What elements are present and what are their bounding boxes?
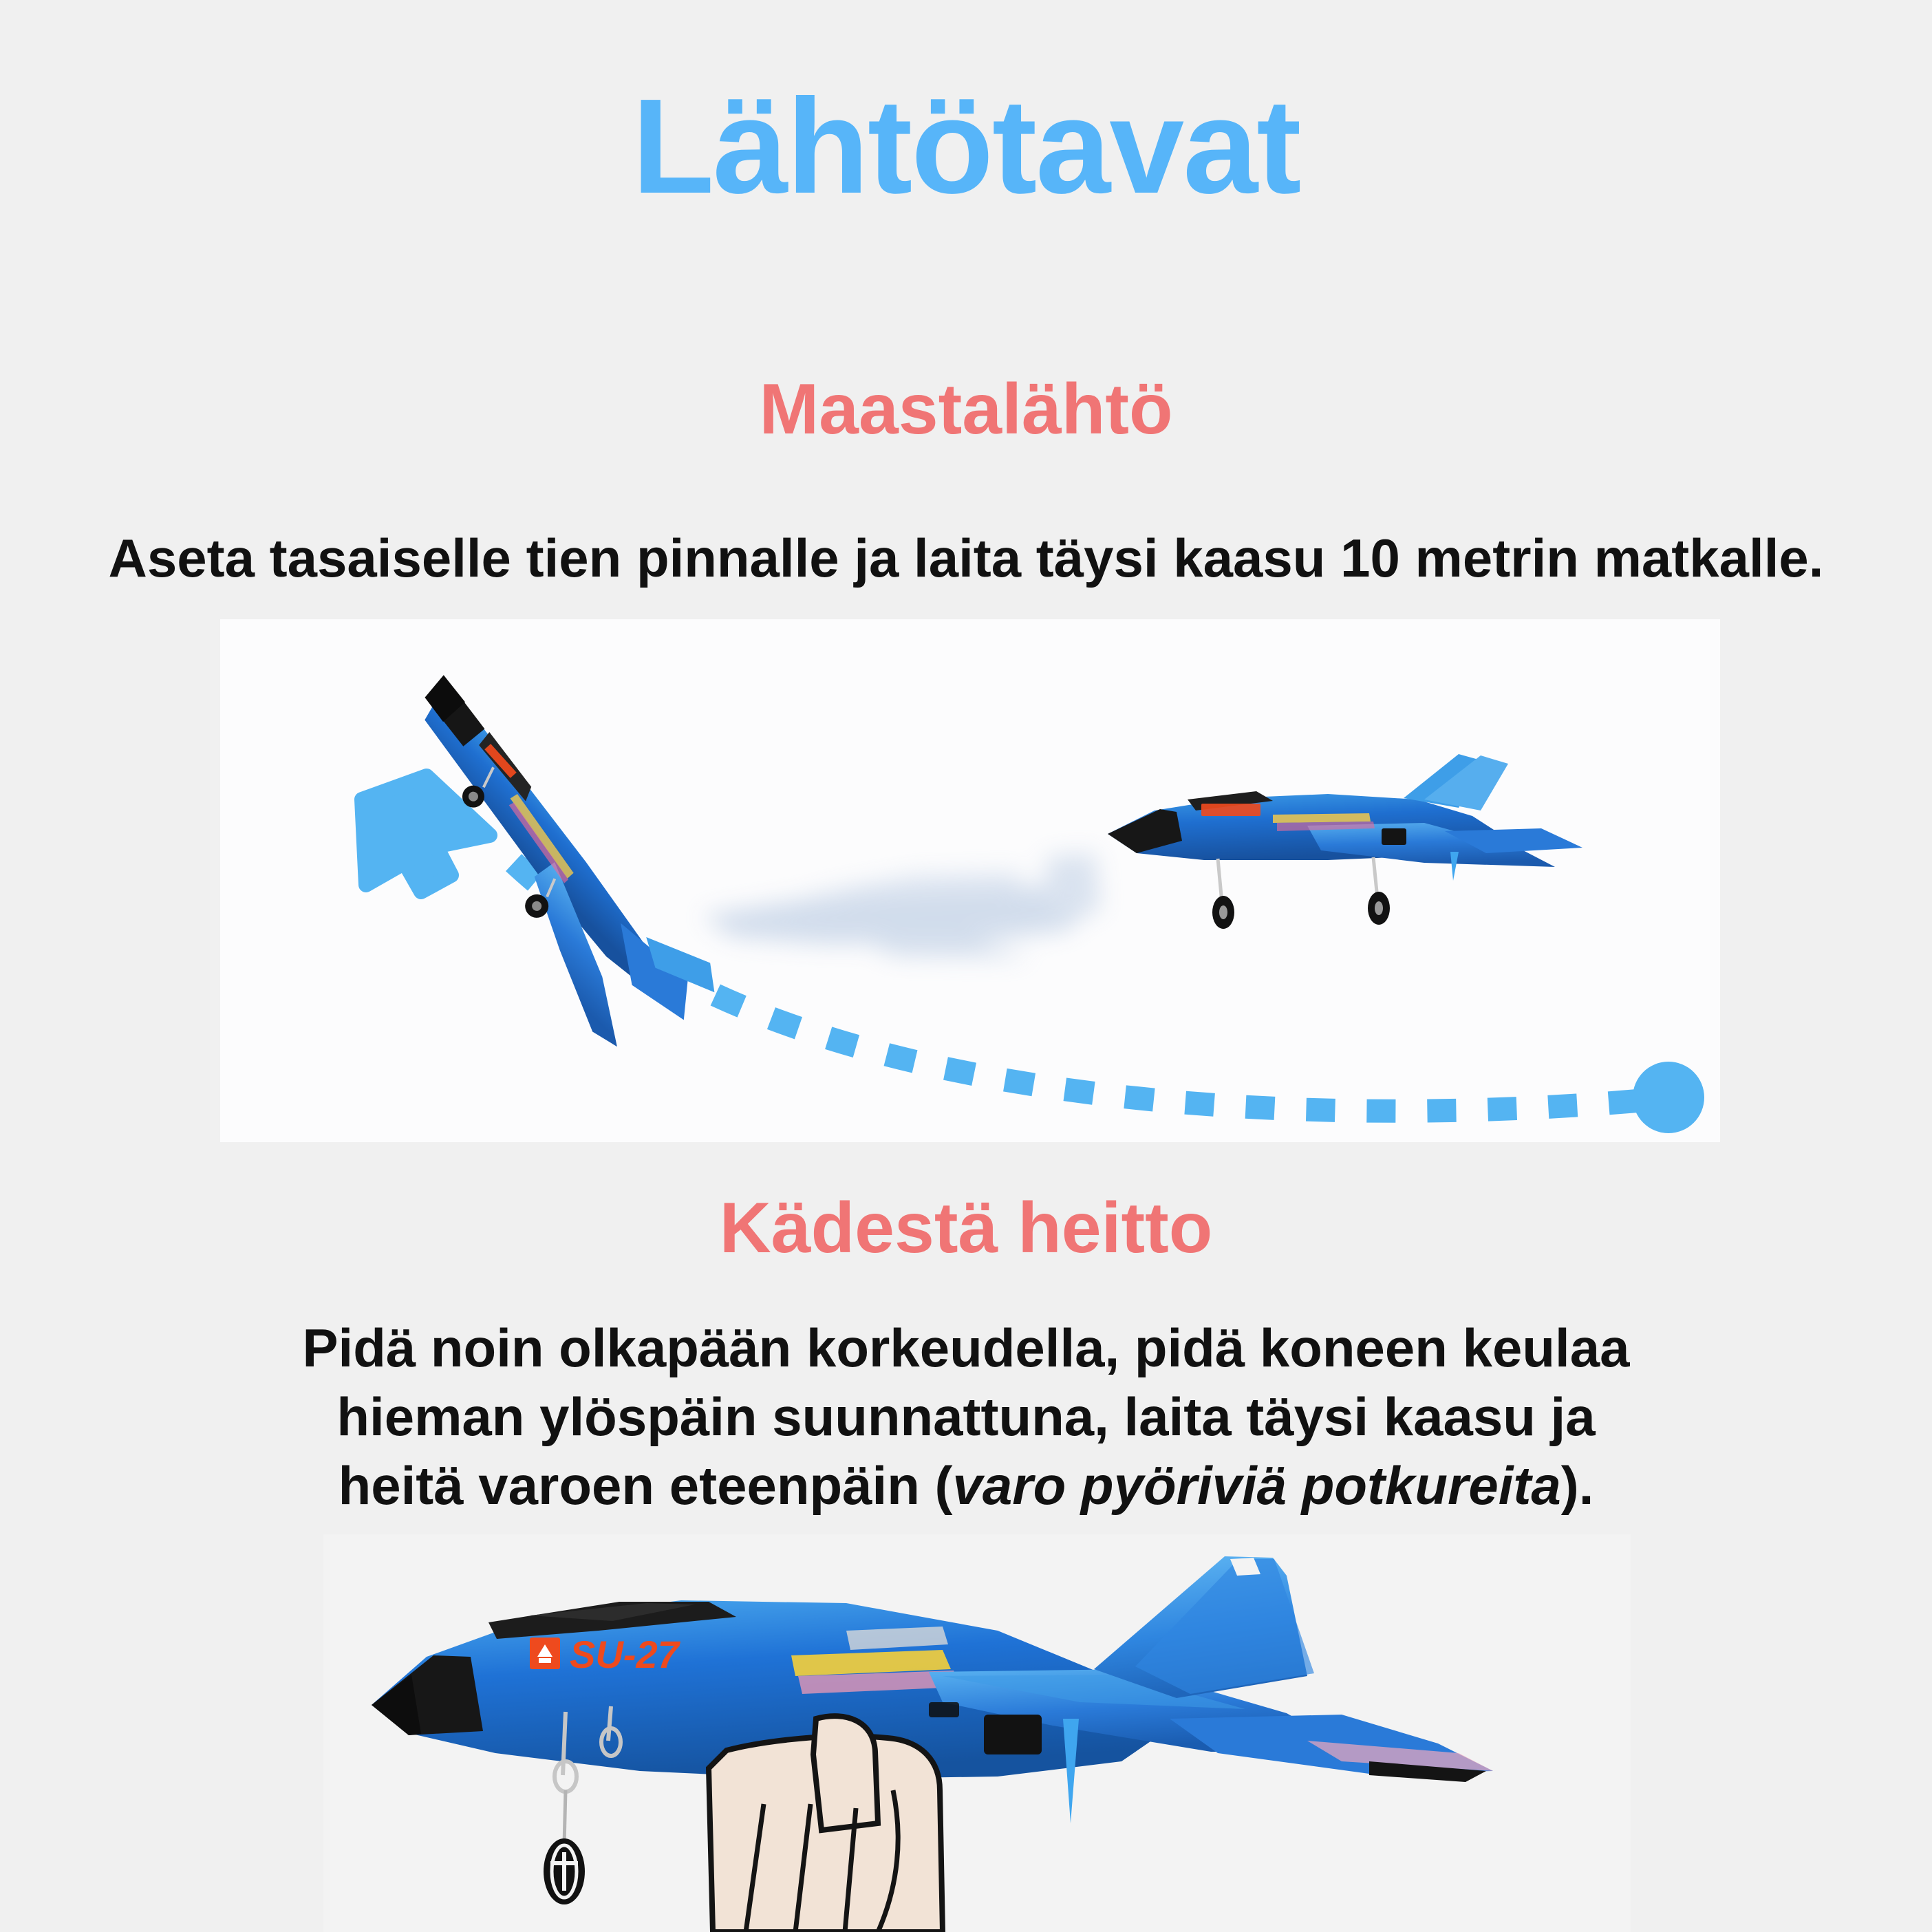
- body-line-3: heitä varoen eteenpäin (varo pyöriviä po…: [0, 1452, 1932, 1521]
- body-line-3-prefix: heitä varoen eteenpäin (: [339, 1455, 953, 1516]
- section-body-hand-throw: Pidä noin olkapään korkeudella, pidä kon…: [0, 1314, 1932, 1520]
- body-italic-warning: varo pyöriviä potkureita: [953, 1455, 1561, 1516]
- ground-takeoff-illustration: [220, 619, 1720, 1142]
- body-line-2: hieman ylöspäin suunnattuna, laita täysi…: [0, 1383, 1932, 1452]
- trajectory-end-dot: [1633, 1062, 1704, 1133]
- section-heading-hand-throw: Kädestä heitto: [0, 1189, 1932, 1267]
- hand-illustration: [709, 1716, 943, 1932]
- body-line-3-suffix: ).: [1561, 1455, 1594, 1516]
- section-body-ground-takeoff: Aseta tasaiselle tien pinnalle ja laita …: [0, 524, 1932, 593]
- su27-label: SU-27: [570, 1633, 681, 1676]
- body-line-1: Pidä noin olkapään korkeudella, pidä kon…: [0, 1314, 1932, 1383]
- page-title: Lähtötavat: [0, 76, 1932, 217]
- propeller-front: [544, 1838, 585, 1904]
- section-heading-ground-takeoff: Maastalähtö: [0, 370, 1932, 449]
- hand-throw-illustration: SU-27: [323, 1534, 1631, 1932]
- poster-page: Lähtötavat Maastalähtö Aseta tasaiselle …: [0, 0, 1932, 1932]
